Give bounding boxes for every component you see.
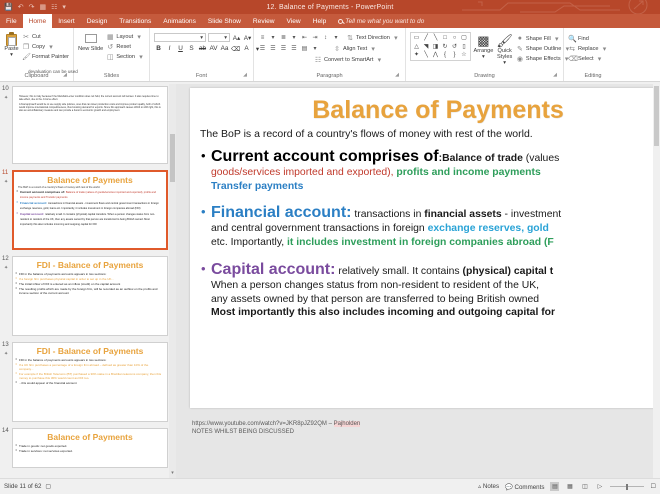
scissors-icon: ✂ bbox=[22, 33, 30, 41]
slide-title[interactable]: Balance of Payments bbox=[200, 94, 660, 126]
new-slide-label: New Slide bbox=[78, 46, 103, 52]
thumb-canvas-10[interactable]: However, this is risky because if the Ma… bbox=[12, 86, 168, 164]
shape-effects-label: Shape Effects bbox=[526, 56, 561, 62]
notes-line-2: NOTES WHILST BEING DISCUSSED bbox=[192, 428, 658, 436]
bullet-dot-icon-2: • bbox=[201, 205, 206, 219]
paragraph-row-3[interactable]: ☷ Convert to SmartArt ▾ bbox=[258, 55, 383, 64]
shape-outline-icon: ✎ bbox=[516, 45, 524, 53]
notes-line-1: https://www.youtube.com/watch?v=JKR8pJZ9… bbox=[192, 420, 658, 428]
reading-view-icon[interactable]: ◫ bbox=[580, 482, 589, 491]
align-center-icon[interactable]: ☰ bbox=[269, 44, 278, 53]
editing-label-text: Editing bbox=[584, 73, 601, 79]
thumb-11-head-3: Capital account: bbox=[20, 212, 44, 216]
thumbnail-slide-12[interactable]: 12 ✦ FDI - Balance of Payments FDI in th… bbox=[0, 256, 176, 336]
text-shadow-icon[interactable]: S bbox=[187, 44, 196, 53]
clear-formatting-icon[interactable]: ⌫ bbox=[231, 44, 240, 53]
paragraph-row-2[interactable]: ☰ ☰ ☰ ☰ ▤ ▾ ⇳ Align Text ▾ bbox=[258, 44, 377, 53]
grow-font-icon[interactable]: A▴ bbox=[232, 33, 241, 42]
thumb-canvas-14[interactable]: Balance of Payments Trade in goods: net … bbox=[12, 428, 168, 468]
copy-label: Copy bbox=[32, 44, 45, 50]
columns-icon[interactable]: ▤ bbox=[300, 44, 309, 53]
shape-arrow-icon[interactable]: ╲ bbox=[431, 34, 440, 42]
smartart-icon: ☷ bbox=[314, 56, 322, 64]
thumb-12-bullet-4: The resulting profits which are made by … bbox=[13, 286, 167, 295]
thumb-11-block-2: Financial account: transactions in finan… bbox=[14, 200, 166, 211]
slide-bullet-current-account[interactable]: • Current account comprises of:Balance o… bbox=[200, 148, 660, 193]
physical-capital-text: (physical) capital t bbox=[463, 266, 554, 277]
font-name-row[interactable]: ▾ ▾ A▴ A▾ bbox=[154, 33, 252, 42]
shape-triangle-icon[interactable]: △ bbox=[412, 43, 421, 51]
quick-styles-icon: 🖌 bbox=[496, 34, 513, 48]
replace-button[interactable]: ⇆ Replace ▾ bbox=[568, 44, 609, 53]
bullet-dot-icon-3: • bbox=[201, 262, 206, 276]
italic-icon[interactable]: I bbox=[165, 44, 174, 53]
section-label: Section bbox=[116, 54, 135, 60]
line-spacing-icon[interactable]: ↕ bbox=[321, 33, 330, 42]
notes-button[interactable]: ▵ Notes bbox=[478, 483, 499, 490]
paste-button[interactable]: Paste ▾ bbox=[4, 30, 19, 58]
drawing-dialog-launcher-icon[interactable]: ◢ bbox=[553, 71, 557, 80]
columns-chevron-icon[interactable]: ▾ bbox=[311, 44, 320, 53]
current-account-line2-green: profits and income payments bbox=[394, 167, 541, 178]
new-slide-button[interactable]: New Slide bbox=[78, 30, 103, 52]
change-case-icon[interactable]: Aa bbox=[220, 44, 229, 53]
font-name-input[interactable]: ▾ bbox=[154, 33, 206, 42]
thumb-11-block-3: Capital account: relatively small. It co… bbox=[14, 211, 166, 227]
font-name-chevron-icon[interactable]: ▾ bbox=[200, 35, 203, 41]
capital-account-l4: Most importantly this also includes inco… bbox=[211, 306, 660, 320]
section-chevron-icon[interactable]: ▾ bbox=[137, 53, 145, 61]
slide-thumbnail-panel[interactable]: 10 ✦ However, this is risky because if t… bbox=[0, 84, 176, 478]
thumb-11-block-1: Current account comprises of: Balance of… bbox=[14, 189, 166, 200]
strikethrough-icon[interactable]: ab bbox=[198, 44, 207, 53]
font-label-text: Font bbox=[196, 73, 207, 79]
shape-chevron-icon[interactable]: ⋀ bbox=[431, 51, 440, 59]
zoom-slider[interactable] bbox=[610, 486, 644, 487]
select-chevron-icon[interactable]: ▾ bbox=[596, 55, 604, 63]
arrange-button[interactable]: ▩ Arrange ▾ bbox=[474, 32, 494, 60]
replace-label: Replace bbox=[578, 46, 599, 52]
shape-arc-icon[interactable]: ↺ bbox=[450, 43, 459, 51]
tab-view[interactable]: View bbox=[281, 14, 307, 28]
financial-account-l1b: - investment bbox=[502, 209, 561, 220]
shape-callout-icon[interactable]: ▯ bbox=[460, 43, 469, 51]
thumb-11-title: Balance of Payments bbox=[14, 172, 166, 186]
align-text-icon: ⇳ bbox=[333, 45, 341, 53]
window-title: 12. Balance of Payments - PowerPoint bbox=[0, 4, 660, 11]
shape-left-brace-icon[interactable]: { bbox=[441, 51, 450, 59]
thumbnail-slide-14[interactable]: 14 Balance of Payments Trade in goods: n… bbox=[0, 428, 176, 468]
shape-square-icon[interactable]: □ bbox=[441, 34, 450, 42]
shape-fill-icon: ● bbox=[516, 35, 524, 42]
paragraph-label-text: Paragraph bbox=[316, 73, 342, 79]
normal-view-icon[interactable]: ▤ bbox=[550, 482, 559, 491]
shape-right-brace-icon[interactable]: } bbox=[450, 51, 459, 59]
select-icon: ⌫ bbox=[568, 55, 576, 63]
tab-review[interactable]: Review bbox=[247, 14, 281, 28]
character-spacing-icon[interactable]: AV bbox=[209, 44, 218, 53]
thumb-star-icon-11: ✦ bbox=[4, 179, 8, 185]
paste-icon bbox=[5, 32, 18, 46]
copy-icon: ❐ bbox=[22, 43, 30, 51]
layout-chevron-icon[interactable]: ▾ bbox=[135, 33, 143, 41]
font-group-label: Font ◢ bbox=[154, 72, 249, 81]
font-size-input[interactable]: ▾ bbox=[208, 33, 230, 42]
thumb-13-bullet-4: ...this would appear of the financial ac… bbox=[13, 380, 167, 385]
slide-bullet-capital-account[interactable]: • Capital account: relatively small. It … bbox=[200, 261, 660, 320]
ribbon-group-drawing: ▭ ╱ ╲ □ ○ ▢ △ ◥ ◨ ↻ ↺ ▯ ✦ ╲ ⋀ { } bbox=[406, 28, 564, 81]
bold-icon[interactable]: B bbox=[154, 44, 163, 53]
thumbnail-slide-10[interactable]: 10 ✦ However, this is risky because if t… bbox=[0, 84, 176, 164]
font-color-icon[interactable]: A bbox=[242, 44, 251, 53]
thumbnail-slide-13[interactable]: 13 ✦ FDI - Balance of Payments FDI in th… bbox=[0, 342, 176, 422]
replace-chevron-icon[interactable]: ▾ bbox=[601, 45, 609, 53]
fit-to-window-icon[interactable]: ☐ bbox=[650, 483, 656, 490]
shape-outline-label: Shape Outline bbox=[526, 46, 561, 52]
capital-account-l2: When a person changes status from non-re… bbox=[211, 279, 660, 293]
stage-scrollbar[interactable] bbox=[653, 84, 660, 478]
bullets-icon[interactable]: ≡ bbox=[258, 33, 267, 42]
powerpoint-window: 💾 ↶ ↷ ▦ ☷ ▾ 12. Balance of Payments - Po… bbox=[0, 0, 660, 494]
accessibility-icon[interactable]: ▢ bbox=[45, 483, 51, 490]
quick-styles-chevron-icon[interactable]: ▾ bbox=[503, 60, 506, 66]
paragraph-row-1[interactable]: ≡ ▾ ≣ ▾ ⇤ ⇥ ↕ ▾ ⇅ Text Direction ▾ bbox=[258, 33, 400, 42]
capital-account-l3: any assets owned by that person are tran… bbox=[211, 293, 660, 307]
replace-icon: ⇆ bbox=[568, 45, 576, 53]
thumb-star-icon-10: ✦ bbox=[4, 95, 8, 101]
layout-icon: ▦ bbox=[106, 33, 114, 41]
quick-styles-button[interactable]: 🖌 Quick Styles ▾ bbox=[496, 32, 513, 66]
thumb-canvas-12[interactable]: FDI - Balance of Payments FDI in the bal… bbox=[12, 256, 168, 336]
thumb-10-bullet-1: However, this is risky because if the Ma… bbox=[13, 95, 167, 101]
thumbnail-slide-11[interactable]: 11 ✦ Balance of Payments The BoP is a re… bbox=[0, 170, 176, 250]
capital-account-l1a: relatively small. It contains bbox=[335, 266, 462, 277]
notes-url: https://www.youtube.com/watch?v=JKR8pJZ9… bbox=[192, 421, 327, 427]
align-right-icon[interactable]: ☰ bbox=[279, 44, 288, 53]
bullet-dot-icon-1: • bbox=[201, 149, 206, 163]
notes-author: Pajholden bbox=[334, 421, 361, 427]
thumb-star-icon-12: ✦ bbox=[4, 265, 8, 271]
line-spacing-chevron-icon[interactable]: ▾ bbox=[332, 33, 341, 42]
cut-label: Cut bbox=[32, 34, 41, 40]
reset-label: Reset bbox=[116, 44, 131, 50]
paintbrush-icon: 🖌 bbox=[22, 53, 30, 61]
thumb-13-bullet-3: For example if the British Telecoms (BT)… bbox=[13, 371, 167, 380]
ribbon-group-slides: New Slide ▦ Layout ▾ ↺ Reset ◫ Section bbox=[74, 28, 150, 81]
arrange-chevron-icon[interactable]: ▾ bbox=[482, 54, 485, 60]
status-bar: Slide 11 of 62 ▢ ▵ Notes 💬 Comments ▤ ▦ … bbox=[0, 478, 660, 494]
thumb-canvas-13[interactable]: FDI - Balance of Payments FDI in the bal… bbox=[12, 342, 168, 422]
transfer-payments-text: Transfer payments bbox=[211, 181, 303, 192]
align-text-label: Align Text bbox=[343, 46, 367, 52]
shape-fill-chevron-icon[interactable]: ▾ bbox=[553, 35, 561, 43]
shape-oval-icon[interactable]: ○ bbox=[450, 34, 459, 42]
tell-me-placeholder: Tell me what you want to do bbox=[345, 18, 424, 25]
thumb-13-bullet-2: If a UK firm purchases a percentage of a… bbox=[13, 362, 167, 371]
text-direction-chevron-icon[interactable]: ▾ bbox=[392, 34, 400, 42]
decrease-indent-icon[interactable]: ⇤ bbox=[300, 33, 309, 42]
quick-styles-label: Quick Styles bbox=[496, 48, 513, 60]
slide-bullet-financial-account[interactable]: • Financial account: transactions in fin… bbox=[200, 204, 660, 249]
slide-subtitle[interactable]: The BoP is a record of a country's flows… bbox=[200, 127, 660, 141]
drawing-group-label: Drawing ◢ bbox=[410, 72, 559, 81]
underline-icon[interactable]: U bbox=[176, 44, 185, 53]
panel-scrollbar-thumb[interactable] bbox=[170, 134, 175, 182]
format-painter-button[interactable]: 🖌 Format Painter bbox=[22, 52, 69, 61]
financial-account-head: Financial account: bbox=[211, 204, 351, 221]
cut-button[interactable]: ✂ Cut bbox=[22, 32, 69, 41]
shape-line-icon[interactable]: ╱ bbox=[422, 34, 431, 42]
tab-animations[interactable]: Animations bbox=[157, 14, 202, 28]
panel-scroll-down-icon[interactable]: ▾ bbox=[170, 470, 175, 476]
comments-button-label: Comments bbox=[515, 484, 545, 491]
align-left-icon[interactable]: ☰ bbox=[258, 44, 267, 53]
slide-sorter-view-icon[interactable]: ▦ bbox=[565, 482, 574, 491]
shape-scribble-icon[interactable]: ╲ bbox=[422, 51, 431, 59]
tab-slide-show[interactable]: Slide Show bbox=[202, 14, 247, 28]
slide-counter: Slide 11 of 62 bbox=[4, 483, 41, 490]
numbering-icon[interactable]: ≣ bbox=[279, 33, 288, 42]
financial-account-l2a: and central government transactions in f… bbox=[211, 223, 428, 234]
title-bar: 💾 ↶ ↷ ▦ ☷ ▾ 12. Balance of Payments - Po… bbox=[0, 0, 660, 14]
notes-pane[interactable]: https://www.youtube.com/watch?v=JKR8pJZ9… bbox=[190, 416, 660, 478]
thumb-star-icon-13: ✦ bbox=[4, 351, 8, 357]
tell-me-search[interactable]: Tell me what you want to do bbox=[332, 14, 424, 28]
bullets-chevron-icon[interactable]: ▾ bbox=[269, 33, 278, 42]
tab-transitions[interactable]: Transitions bbox=[113, 14, 157, 28]
stage-scrollbar-thumb[interactable] bbox=[654, 86, 659, 146]
thumb-10-bullet-2: A final approach would be to use supply … bbox=[13, 103, 167, 112]
convert-to-smartart-button[interactable]: ☷ Convert to SmartArt ▾ bbox=[314, 55, 383, 64]
thumb-13-title: FDI - Balance of Payments bbox=[13, 343, 167, 357]
slides-label-text: Slides bbox=[104, 73, 119, 79]
shape-fill-label: Shape Fill bbox=[526, 36, 551, 42]
copy-chevron-icon[interactable]: ▾ bbox=[47, 43, 55, 51]
shape-effects-icon: ◉ bbox=[516, 55, 524, 63]
financial-account-l3green: it includes investment in foreign compan… bbox=[287, 237, 554, 248]
tab-home[interactable]: Home bbox=[23, 14, 53, 28]
slides-group-label: Slides bbox=[78, 72, 145, 81]
panel-scrollbar[interactable]: ▾ bbox=[169, 84, 176, 478]
layout-label: Layout bbox=[116, 34, 133, 40]
current-account-head: Current account comprises of bbox=[211, 148, 439, 165]
reset-button[interactable]: ↺ Reset bbox=[106, 42, 145, 51]
tab-help[interactable]: Help bbox=[307, 14, 333, 28]
shape-right-triangle-icon[interactable]: ◥ bbox=[422, 43, 431, 51]
thumb-12-title: FDI - Balance of Payments bbox=[13, 257, 167, 271]
ribbon: Paste ▾ ✂ Cut ❐ Copy ▾ 🖌 Format bbox=[0, 28, 660, 82]
shape-curve-arrow-icon[interactable]: ↻ bbox=[441, 43, 450, 51]
section-button[interactable]: ◫ Section ▾ bbox=[106, 52, 145, 61]
notes-button-label: Notes bbox=[483, 483, 499, 490]
text-direction-icon: ⇅ bbox=[346, 34, 354, 42]
arrange-icon: ▩ bbox=[477, 34, 489, 48]
layout-button[interactable]: ▦ Layout ▾ bbox=[106, 32, 145, 41]
notes-dash: – bbox=[327, 421, 334, 427]
select-label: Select bbox=[578, 56, 594, 62]
numbering-chevron-icon[interactable]: ▾ bbox=[290, 33, 299, 42]
editing-group-label: Editing bbox=[568, 72, 618, 81]
copy-button[interactable]: ❐ Copy ▾ bbox=[22, 42, 69, 51]
financial-account-l3a: etc. Importantly, bbox=[211, 237, 287, 248]
ribbon-group-paragraph: ≡ ▾ ≣ ▾ ⇤ ⇥ ↕ ▾ ⇅ Text Direction ▾ ☰ bbox=[254, 28, 406, 81]
font-dialog-launcher-icon[interactable]: ◢ bbox=[243, 71, 247, 80]
shape-freeform-icon[interactable]: ✦ bbox=[412, 51, 421, 59]
increase-indent-icon[interactable]: ⇥ bbox=[311, 33, 320, 42]
thumb-14-title: Balance of Payments bbox=[13, 429, 167, 443]
find-search-icon: 🔍 bbox=[568, 35, 576, 43]
search-icon bbox=[338, 19, 343, 24]
align-text-button[interactable]: ⇳ Align Text ▾ bbox=[333, 44, 377, 53]
current-slide-canvas[interactable]: Balance of Payments The BoP is a record … bbox=[190, 88, 660, 408]
ribbon-tab-bar[interactable]: File Home Insert Design Transitions Anim… bbox=[0, 14, 660, 28]
shape-rect-icon[interactable]: ▭ bbox=[412, 34, 421, 42]
thumb-11-head-2: Financial account: bbox=[20, 201, 47, 205]
slideshow-view-icon[interactable]: ▷ bbox=[595, 482, 604, 491]
find-button[interactable]: 🔍 Find bbox=[568, 34, 609, 43]
shape-trapezoid-icon[interactable]: ◨ bbox=[431, 43, 440, 51]
smartart-chevron-icon[interactable]: ▾ bbox=[375, 56, 383, 64]
comments-button[interactable]: 💬 Comments bbox=[505, 483, 544, 491]
current-account-line2-red: goods/services imported and exported), bbox=[211, 167, 394, 178]
ribbon-overflow-text: devaluation can be used bbox=[28, 69, 78, 74]
tab-insert[interactable]: Insert bbox=[52, 14, 81, 28]
new-slide-icon bbox=[84, 32, 98, 46]
text-direction-label: Text Direction bbox=[356, 35, 390, 41]
paste-chevron-icon[interactable]: ▾ bbox=[10, 52, 13, 58]
current-account-values-text: (values bbox=[523, 153, 559, 164]
select-button[interactable]: ⌫ Select ▾ bbox=[568, 54, 609, 63]
shape-rounded-rect-icon[interactable]: ▢ bbox=[460, 34, 469, 42]
find-label: Find bbox=[578, 36, 589, 42]
convert-to-smartart-label: Convert to SmartArt bbox=[324, 57, 373, 63]
shapes-gallery[interactable]: ▭ ╱ ╲ □ ○ ▢ △ ◥ ◨ ↻ ↺ ▯ ✦ ╲ ⋀ { } bbox=[410, 32, 471, 61]
justify-icon[interactable]: ☰ bbox=[290, 44, 299, 53]
thumb-11-head-1: Current account comprises of: bbox=[20, 190, 65, 194]
thumb-canvas-11[interactable]: Balance of Payments The BoP is a record … bbox=[12, 170, 168, 250]
exchange-reserves-text: exchange reserves, gold bbox=[428, 223, 549, 234]
format-painter-label: Format Painter bbox=[32, 54, 69, 60]
reset-icon: ↺ bbox=[106, 43, 114, 51]
slide-editing-stage: Balance of Payments The BoP is a record … bbox=[176, 84, 660, 478]
financial-account-l1a: transactions in bbox=[351, 209, 424, 220]
tab-file[interactable]: File bbox=[0, 14, 23, 28]
shrink-font-icon[interactable]: A▾ bbox=[243, 33, 252, 42]
text-direction-button[interactable]: ⇅ Text Direction ▾ bbox=[346, 33, 400, 42]
paragraph-dialog-launcher-icon[interactable]: ◢ bbox=[395, 71, 399, 80]
thumb-14-bullet-2: Trade in services: net services exported… bbox=[13, 448, 167, 453]
align-text-chevron-icon[interactable]: ▾ bbox=[369, 45, 377, 53]
drawing-label-text: Drawing bbox=[474, 73, 495, 79]
font-size-chevron-icon[interactable]: ▾ bbox=[224, 35, 227, 41]
paragraph-group-label: Paragraph ◢ bbox=[258, 72, 401, 81]
capital-account-head: Capital account: bbox=[211, 261, 335, 278]
ribbon-group-editing: 🔍 Find ⇆ Replace ▾ ⌫ Select ▾ bbox=[564, 28, 622, 81]
balance-of-trade-text: Balance of trade bbox=[442, 153, 523, 164]
shape-star-icon[interactable]: ☆ bbox=[460, 51, 469, 59]
tab-design[interactable]: Design bbox=[81, 14, 114, 28]
financial-assets-text: financial assets bbox=[424, 209, 501, 220]
ribbon-group-font: ▾ ▾ A▴ A▾ B I U S ab AV Aa bbox=[150, 28, 254, 81]
font-format-row[interactable]: B I U S ab AV Aa ⌫ A ▾ bbox=[154, 44, 262, 53]
section-icon: ◫ bbox=[106, 53, 114, 61]
